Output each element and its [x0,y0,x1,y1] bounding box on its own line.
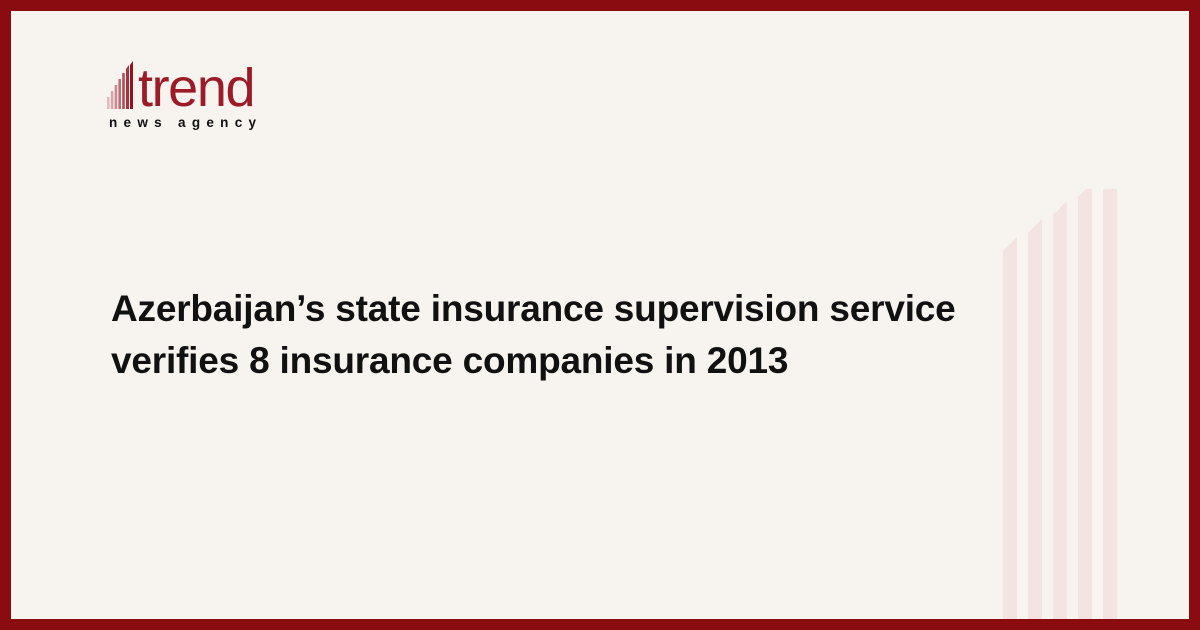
logo-wordmark-text: trend [138,64,254,112]
trend-logo[interactable]: trend news agency [107,57,437,130]
headline: Azerbaijan’s state insurance supervision… [111,283,1011,387]
ascending-bars-decoration-icon [1003,189,1163,619]
ascending-bars-icon [107,61,137,109]
headline-line-1: Azerbaijan’s state insurance supervision… [111,283,1011,335]
card-inner-surface: trend news agency Azerbaijan’s state ins… [11,11,1189,619]
headline-line-2: verifies 8 insurance companies in 2013 [111,335,1011,387]
article-share-card: trend news agency Azerbaijan’s state ins… [0,0,1200,630]
logo-wordmark-row: trend [107,57,437,109]
